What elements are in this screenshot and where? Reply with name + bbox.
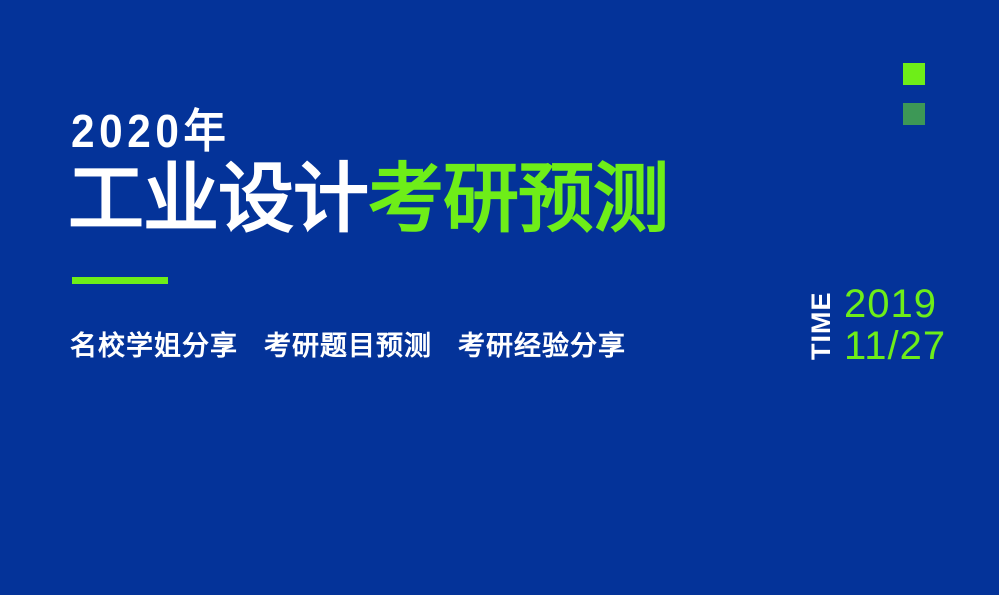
- poster-canvas: 2020年 工业设计考研预测 名校学姐分享考研题目预测考研经验分享 TIME 2…: [0, 0, 999, 595]
- year-label: 2020年: [71, 108, 230, 154]
- decorative-square-muted: [903, 103, 925, 125]
- page-title: 工业设计考研预测: [68, 160, 668, 241]
- subtitle-segment-2: 考研题目预测: [264, 331, 432, 361]
- subtitle-segment-3: 考研经验分享: [458, 331, 626, 361]
- page-title-accent: 考研预测: [368, 157, 668, 242]
- decorative-square-bright: [903, 63, 925, 85]
- subtitle-segment-1: 名校学姐分享: [70, 331, 238, 361]
- page-title-primary: 工业设计: [68, 157, 368, 242]
- time-label: TIME: [808, 287, 835, 365]
- title-divider: [72, 277, 168, 284]
- time-day: 11/27: [844, 326, 946, 368]
- time-dates: 2019 11/27: [844, 284, 946, 367]
- time-year: 2019: [844, 284, 946, 326]
- subtitle: 名校学姐分享考研题目预测考研经验分享: [70, 330, 626, 362]
- decorative-square-stack: [903, 63, 925, 125]
- time-block: TIME 2019 11/27: [808, 285, 946, 367]
